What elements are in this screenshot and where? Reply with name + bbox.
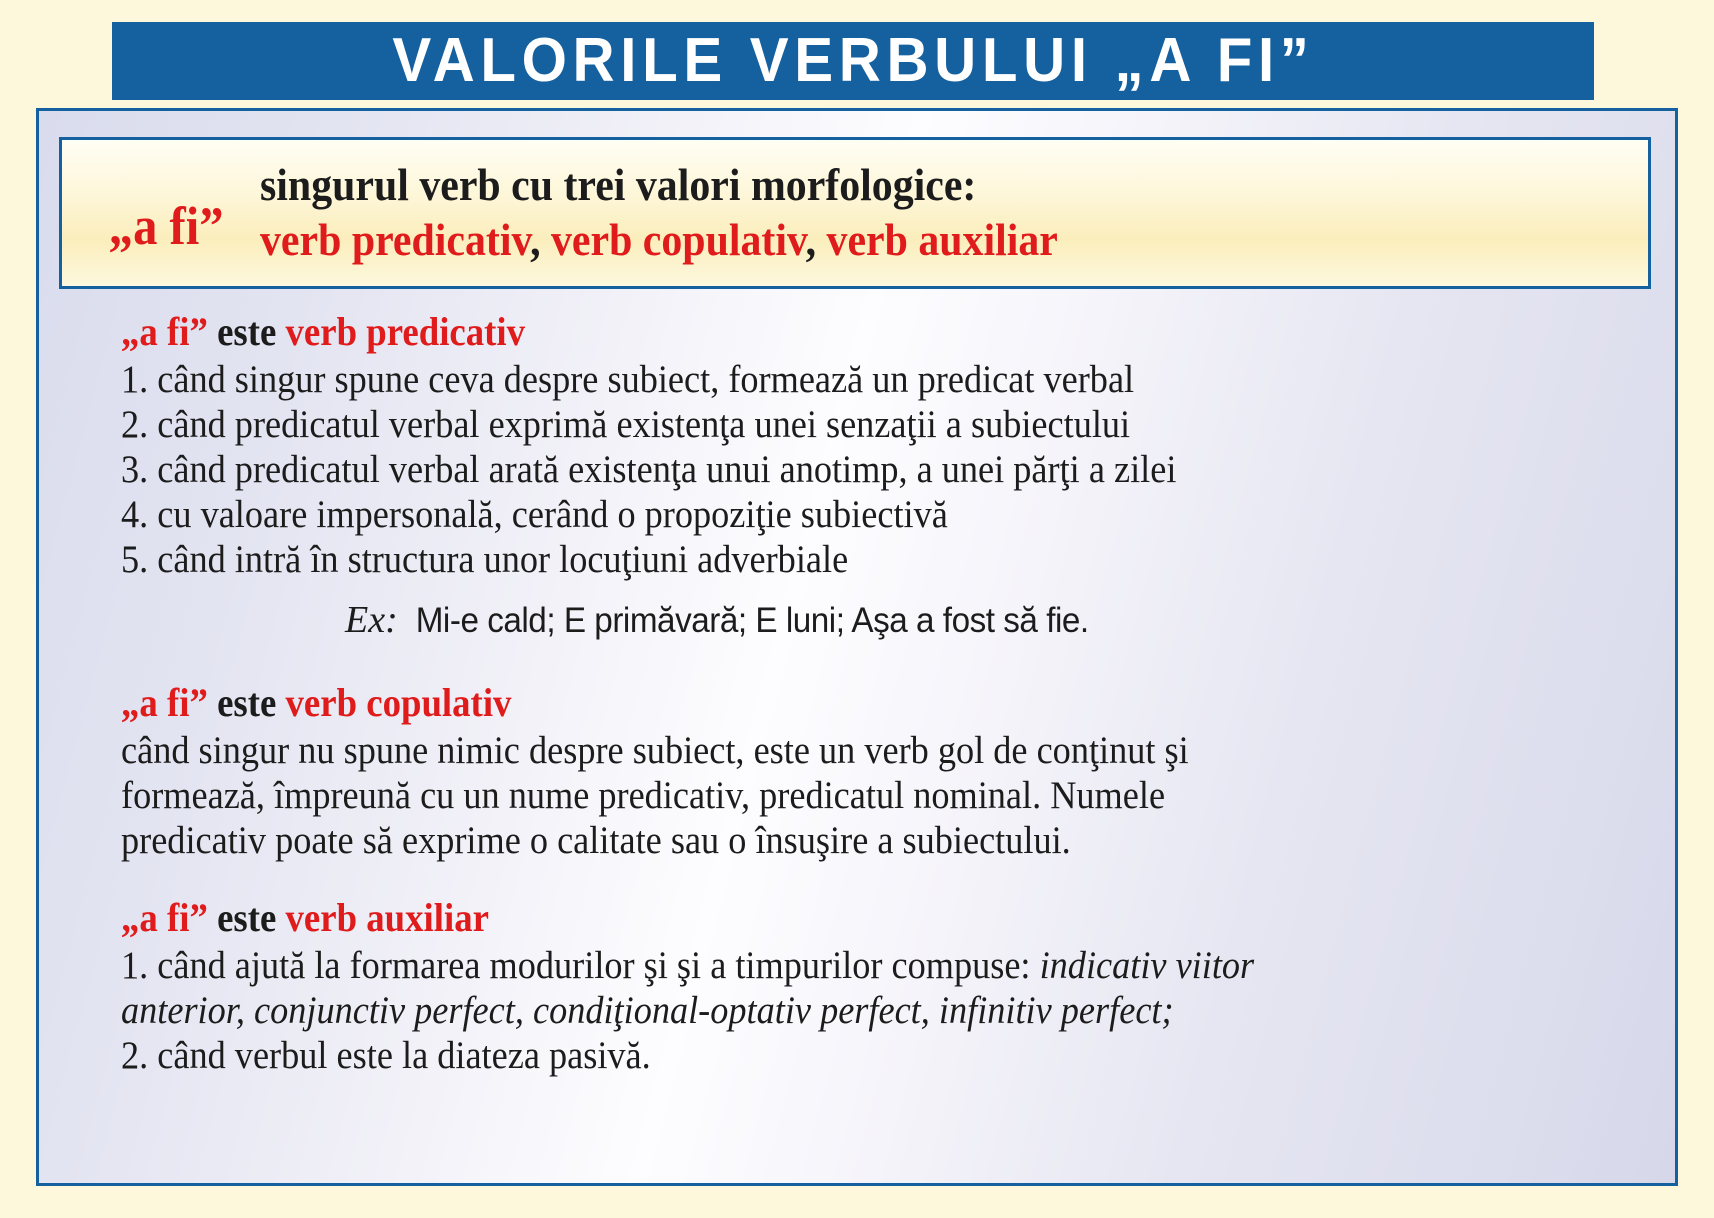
definition-separator-1: , [530,215,551,265]
paragraph-line: când singur nu spune nimic despre subiec… [121,728,1544,773]
heading-value: verb copulativ [286,680,512,725]
section-heading-predicativ: „a fi” este verb predicativ [121,307,1529,357]
paragraph-line: predicativ poate să exprime o calitate s… [121,818,1544,863]
list-item-plain: 1. când ajută la formarea modurilor şi ş… [121,944,1040,987]
list-item: 5. când intră în structura unor locuţiun… [121,537,1544,582]
definition-term: „a fi” [62,171,224,255]
page-title: VALORILE VERBULUI „A FI” [392,30,1314,92]
heading-mid: este [208,309,286,354]
definition-box: „a fi” singurul verb cu trei valori morf… [59,137,1651,289]
list-item-italic: anterior, conjunctiv perfect, condiţiona… [121,989,1174,1032]
definition-value-2: verb copulativ [550,215,805,265]
heading-term: „a fi” [121,680,208,725]
definition-lines: singurul verb cu trei valori morfologice… [242,158,1649,268]
heading-term: „a fi” [121,309,208,354]
section-copulativ: „a fi” este verb copulativ când singur n… [121,678,1651,863]
title-banner: VALORILE VERBULUI „A FI” [112,22,1594,100]
heading-mid: este [208,680,286,725]
section-heading-auxiliar: „a fi” este verb auxiliar [121,893,1529,943]
definition-value-3: verb auxiliar [826,215,1057,265]
section-auxiliar: „a fi” este verb auxiliar 1. când ajută … [121,893,1651,1078]
example-text: Mi-e cald; E primăvară; E luni; Aşa a fo… [415,601,1088,641]
heading-mid: este [208,895,286,940]
definition-values: verb predicativ, verb copulativ, verb au… [260,212,1542,268]
paragraph-line: formează, împreună cu un nume predicativ… [121,773,1544,818]
heading-term: „a fi” [121,895,208,940]
list-item: 1. când ajută la formarea modurilor şi ş… [121,943,1544,988]
definition-intro: singurul verb cu trei valori morfologice… [260,158,1542,212]
list-item: 2. când verbul este la diateza pasivă. [121,1033,1544,1078]
list-item: 3. când predicatul verbal arată existenţ… [121,447,1544,492]
list-item-italic: indicativ viitor [1040,944,1255,987]
content-area: „a fi” este verb predicativ 1. când sing… [121,307,1651,1084]
list-item-plain: 2. când verbul este la diateza pasivă. [121,1034,651,1077]
list-item: 2. când predicatul verbal exprimă existe… [121,402,1544,447]
body-panel: „a fi” singurul verb cu trei valori morf… [36,108,1678,1186]
definition-separator-2: , [805,215,826,265]
section-heading-copulativ: „a fi” este verb copulativ [121,678,1529,728]
example-row: Ex: Mi-e cald; E primăvară; E luni; Aşa … [121,598,1651,642]
list-item: 4. cu valoare impersonală, cerând o prop… [121,492,1544,537]
example-label: Ex: [345,599,398,641]
poster: VALORILE VERBULUI „A FI” „a fi” singurul… [0,0,1714,1218]
definition-value-1: verb predicativ [260,215,530,265]
list-item: anterior, conjunctiv perfect, condiţiona… [121,988,1544,1033]
heading-value: verb auxiliar [286,895,489,940]
list-item: 1. când singur spune ceva despre subiect… [121,357,1544,402]
heading-value: verb predicativ [286,309,526,354]
section-predicativ: „a fi” este verb predicativ 1. când sing… [121,307,1651,642]
